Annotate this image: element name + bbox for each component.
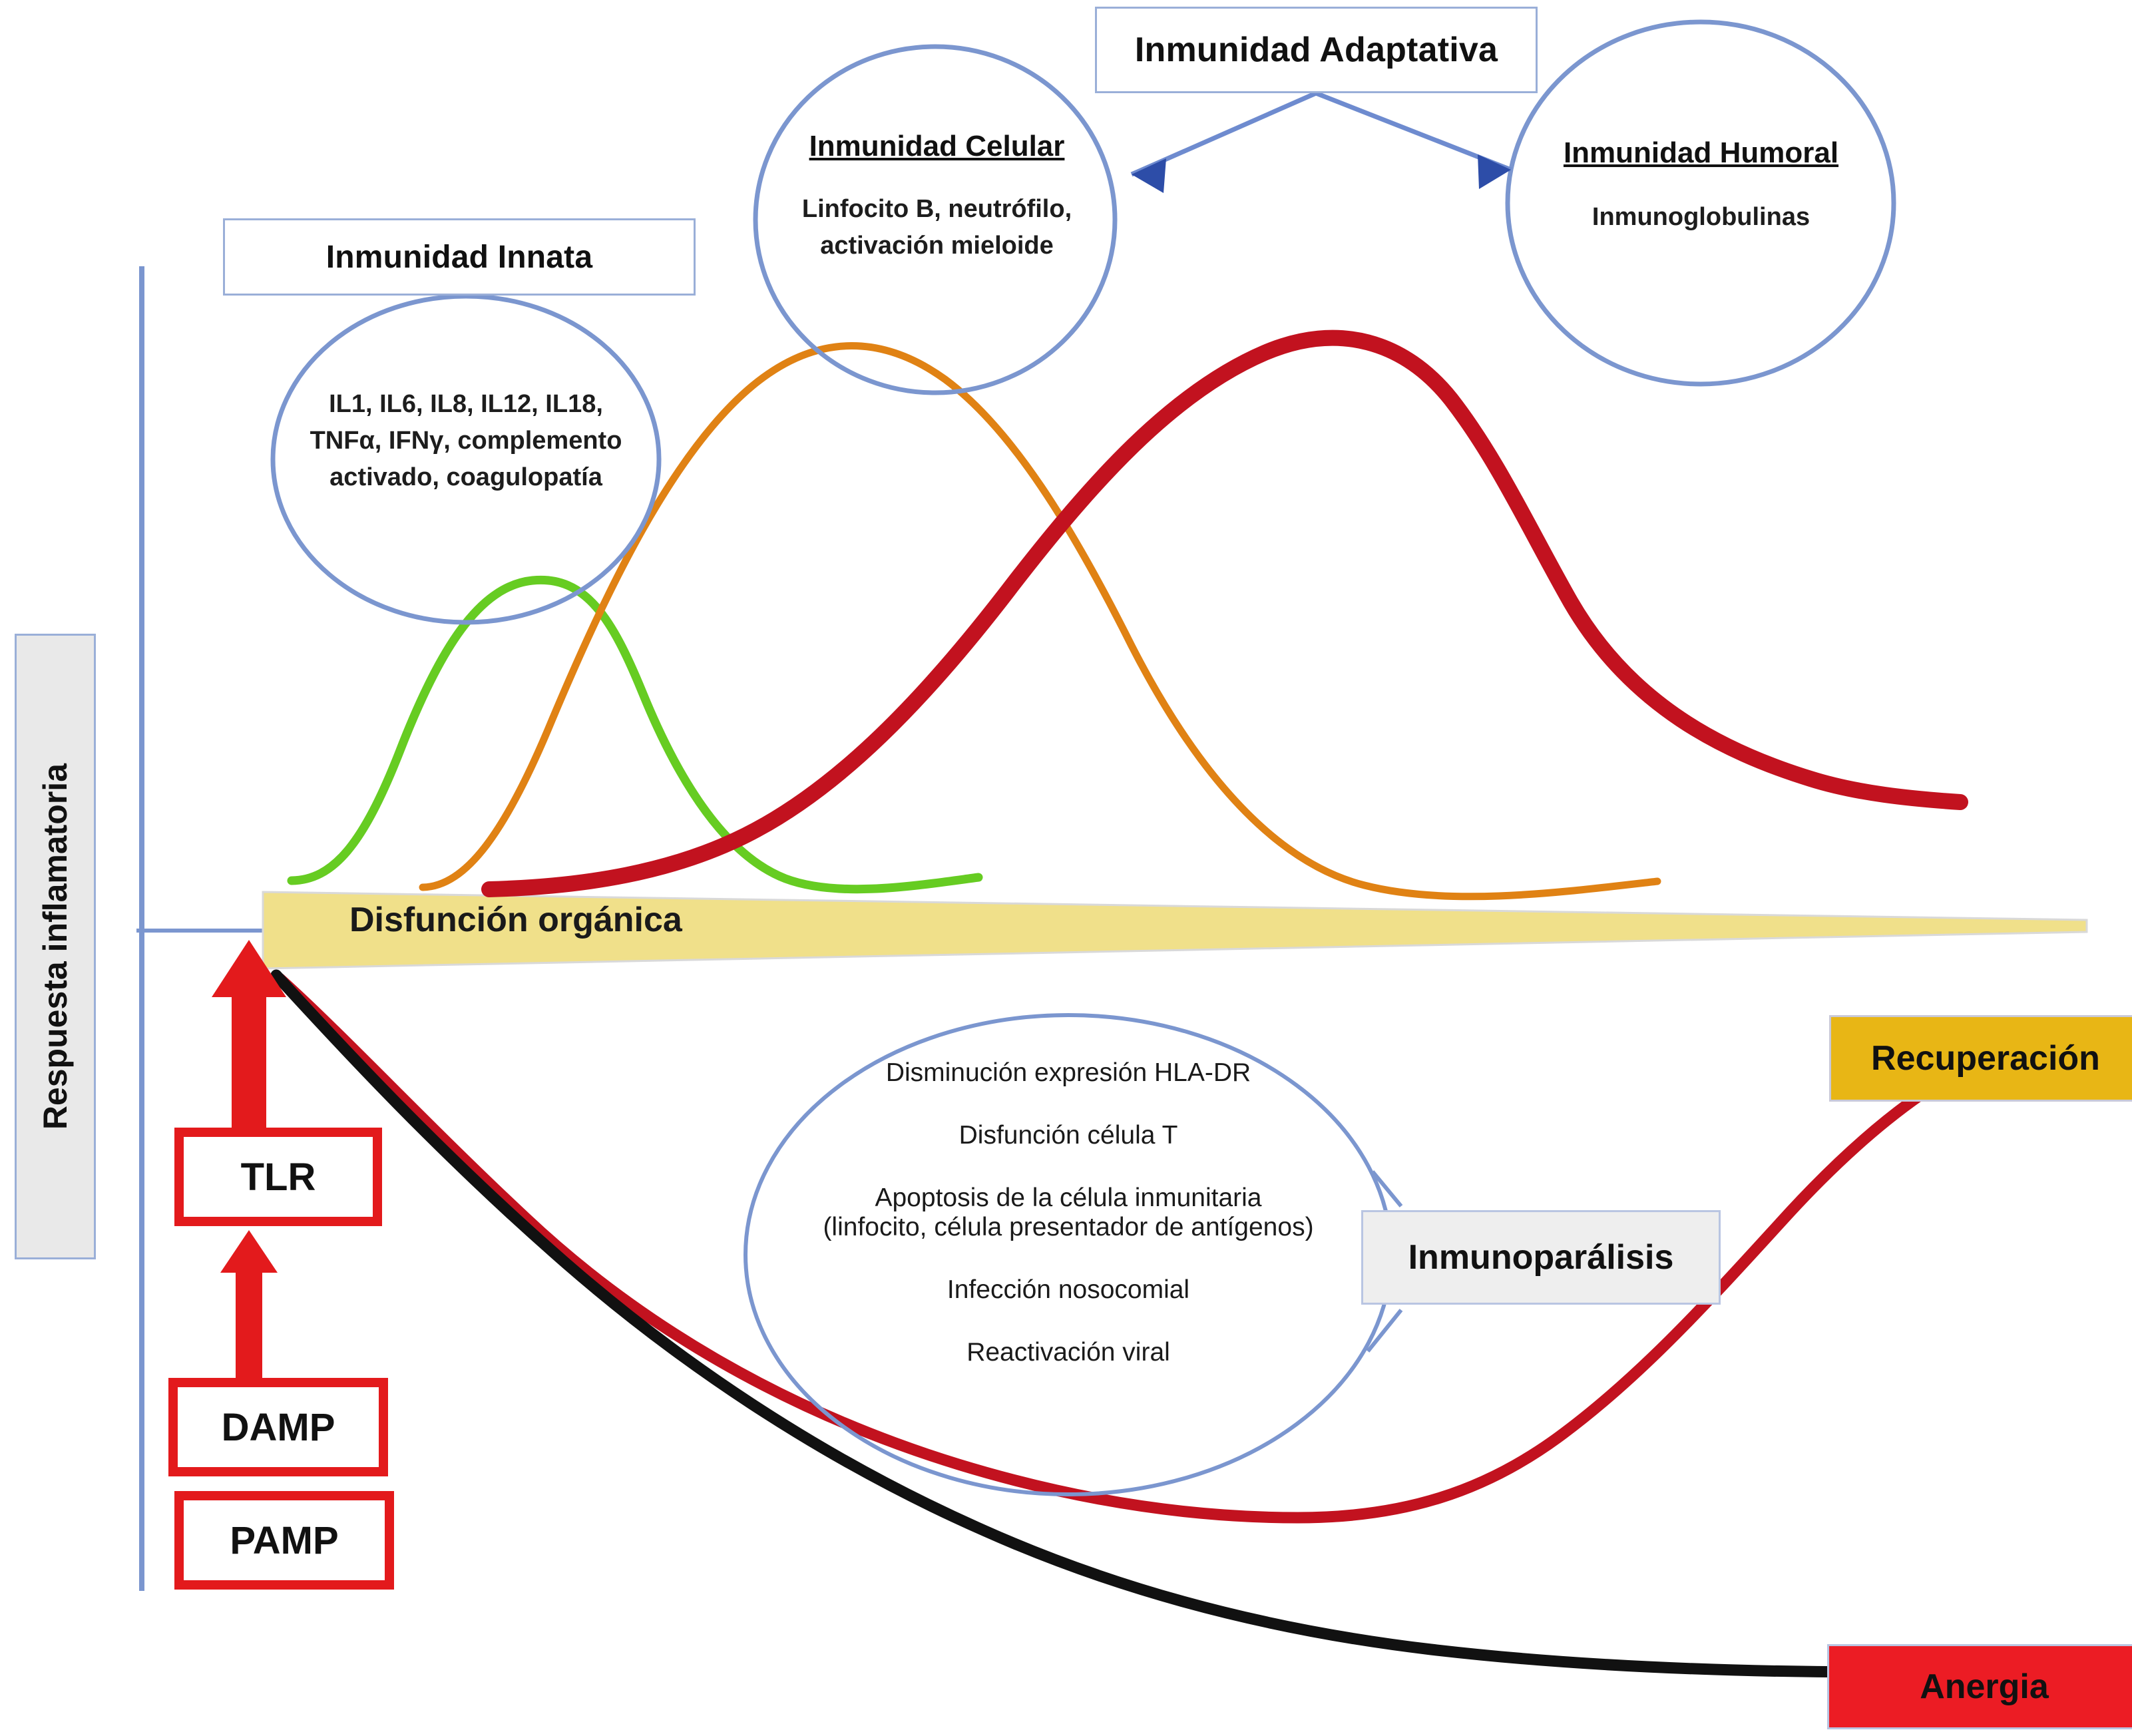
figure-canvas: Inmunidad Adaptativa Inmunidad Innata In… — [0, 0, 2132, 1736]
arrow-head-cellular — [1132, 158, 1166, 193]
curve-recovery-red — [280, 978, 1980, 1518]
tag-immunoparalysis[interactable]: Inmunoparálisis — [1361, 1210, 1721, 1305]
curve-humoral-red — [489, 338, 1960, 889]
tag-anergy[interactable]: Anergia — [1827, 1644, 2132, 1729]
header-innate-label: Inmunidad Innata — [326, 239, 593, 276]
box-tlr-label: TLR — [241, 1155, 316, 1199]
y-axis-label-box: Respuesta inflamatoria — [15, 634, 96, 1259]
circle-humoral — [1508, 22, 1894, 384]
tag-anergy-label: Anergia — [1920, 1667, 2049, 1707]
arrow-damp-to-tlr — [220, 1230, 278, 1381]
tag-immunoparalysis-label: Inmunoparálisis — [1408, 1237, 1674, 1277]
organ-dysfunction-label: Disfunción orgánica — [349, 900, 682, 940]
header-adaptive-label: Inmunidad Adaptativa — [1135, 30, 1498, 70]
y-axis-label-text: Respuesta inflamatoria — [36, 763, 75, 1130]
adaptive-connector-arrows — [1132, 93, 1511, 174]
box-damp[interactable]: DAMP — [168, 1378, 388, 1476]
box-pamp-label: PAMP — [230, 1518, 338, 1563]
header-box-innate[interactable]: Inmunidad Innata — [223, 218, 696, 296]
box-pamp[interactable]: PAMP — [174, 1491, 394, 1590]
circle-cellular — [755, 47, 1115, 393]
header-box-adaptive[interactable]: Inmunidad Adaptativa — [1095, 7, 1538, 93]
tag-recovery-label: Recuperación — [1871, 1038, 2100, 1078]
box-tlr[interactable]: TLR — [174, 1128, 382, 1226]
box-damp-label: DAMP — [222, 1405, 335, 1450]
curve-anergy-black — [276, 975, 1884, 1672]
tag-recovery[interactable]: Recuperación — [1829, 1015, 2132, 1102]
circle-innate — [273, 296, 659, 622]
arrow-head-humoral — [1478, 154, 1511, 189]
